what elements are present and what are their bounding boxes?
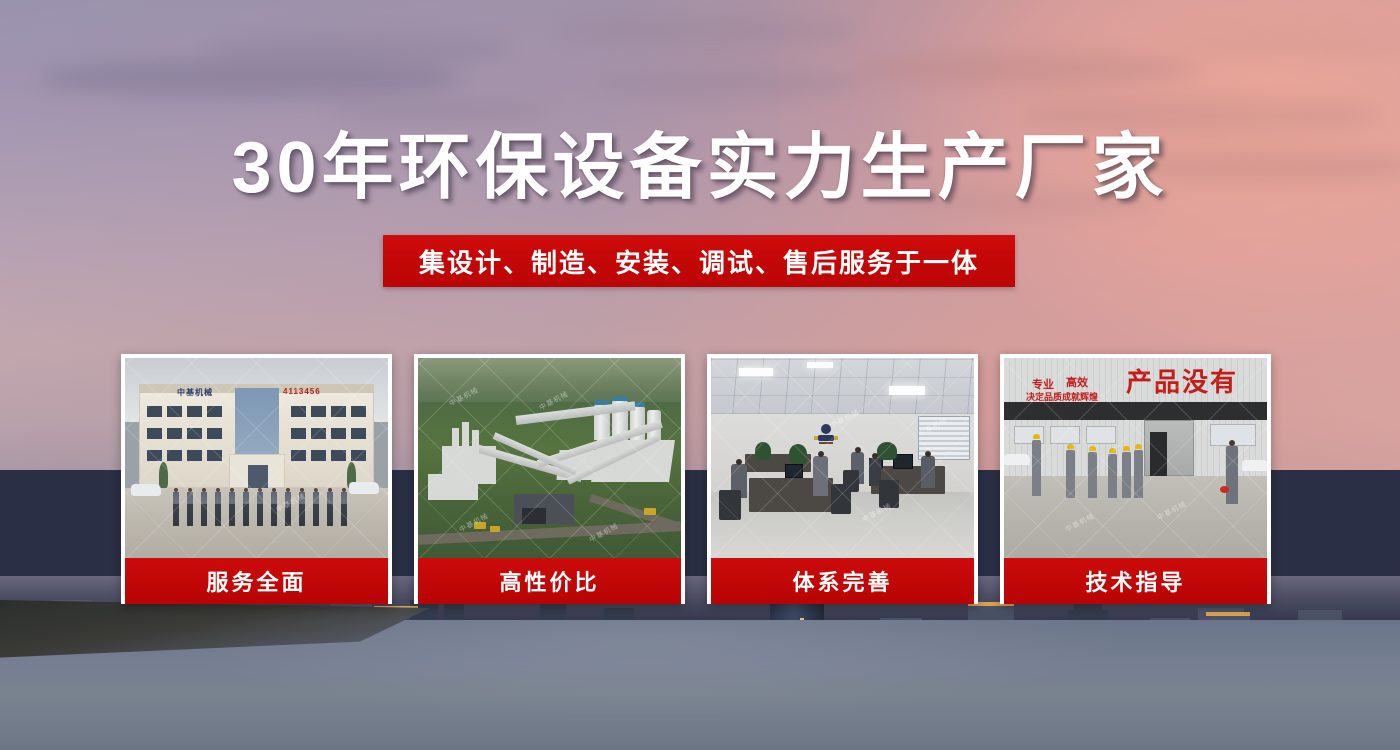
feature-card[interactable]: 产品没有 专业 高效 决定品质 成就辉煌 — [1000, 354, 1271, 604]
card-caption: 服务全面 — [125, 558, 388, 604]
card-caption: 体系完善 — [711, 558, 974, 604]
cloud — [210, 34, 510, 66]
subtitle-text: 集设计、制造、安装、调试、售后服务于一体 — [419, 243, 979, 280]
card-caption: 高性价比 — [418, 558, 681, 604]
factory-slogan: 高效 — [1066, 374, 1088, 390]
feature-card[interactable]: 中基机械 中基机械 中基机械 中基机械 高性价比 — [414, 354, 685, 604]
cloud — [860, 52, 1200, 86]
card-caption-text: 高性价比 — [499, 565, 599, 597]
feature-card[interactable]: 中基机械 中基机械 中基机械 体系完善 — [707, 354, 978, 604]
card-photo-office-building: 中基机械 4113456 — [125, 358, 388, 558]
cloud — [560, 16, 860, 46]
page-title: 30年环保设备实力生产厂家 — [0, 132, 1400, 204]
feature-card[interactable]: 中基机械 4113456 — [121, 354, 392, 604]
cloud — [600, 70, 860, 96]
subtitle-banner: 集设计、制造、安装、调试、售后服务于一体 — [383, 235, 1015, 287]
building-phone-text: 4113456 — [283, 387, 321, 396]
card-caption-text: 技术指导 — [1085, 565, 1185, 597]
feature-card-list: 中基机械 4113456 — [121, 354, 1279, 604]
card-caption: 技术指导 — [1004, 558, 1267, 604]
building-sign-text: 中基机械 — [177, 387, 213, 398]
card-photo-workers-training: 产品没有 专业 高效 决定品质 成就辉煌 — [1004, 358, 1267, 558]
card-photo-office-interior: 中基机械 中基机械 中基机械 — [711, 358, 974, 558]
card-caption-text: 体系完善 — [792, 565, 892, 597]
factory-sign-text: 产品没有 — [1126, 362, 1238, 399]
card-caption-text: 服务全面 — [206, 565, 306, 597]
cloud — [1180, 30, 1400, 56]
cloud — [330, 100, 550, 122]
card-photo-aerial-plant: 中基机械 中基机械 中基机械 中基机械 — [418, 358, 681, 558]
banner-stage: 30年环保设备实力生产厂家 集设计、制造、安装、调试、售后服务于一体 中基机械 … — [0, 0, 1400, 750]
